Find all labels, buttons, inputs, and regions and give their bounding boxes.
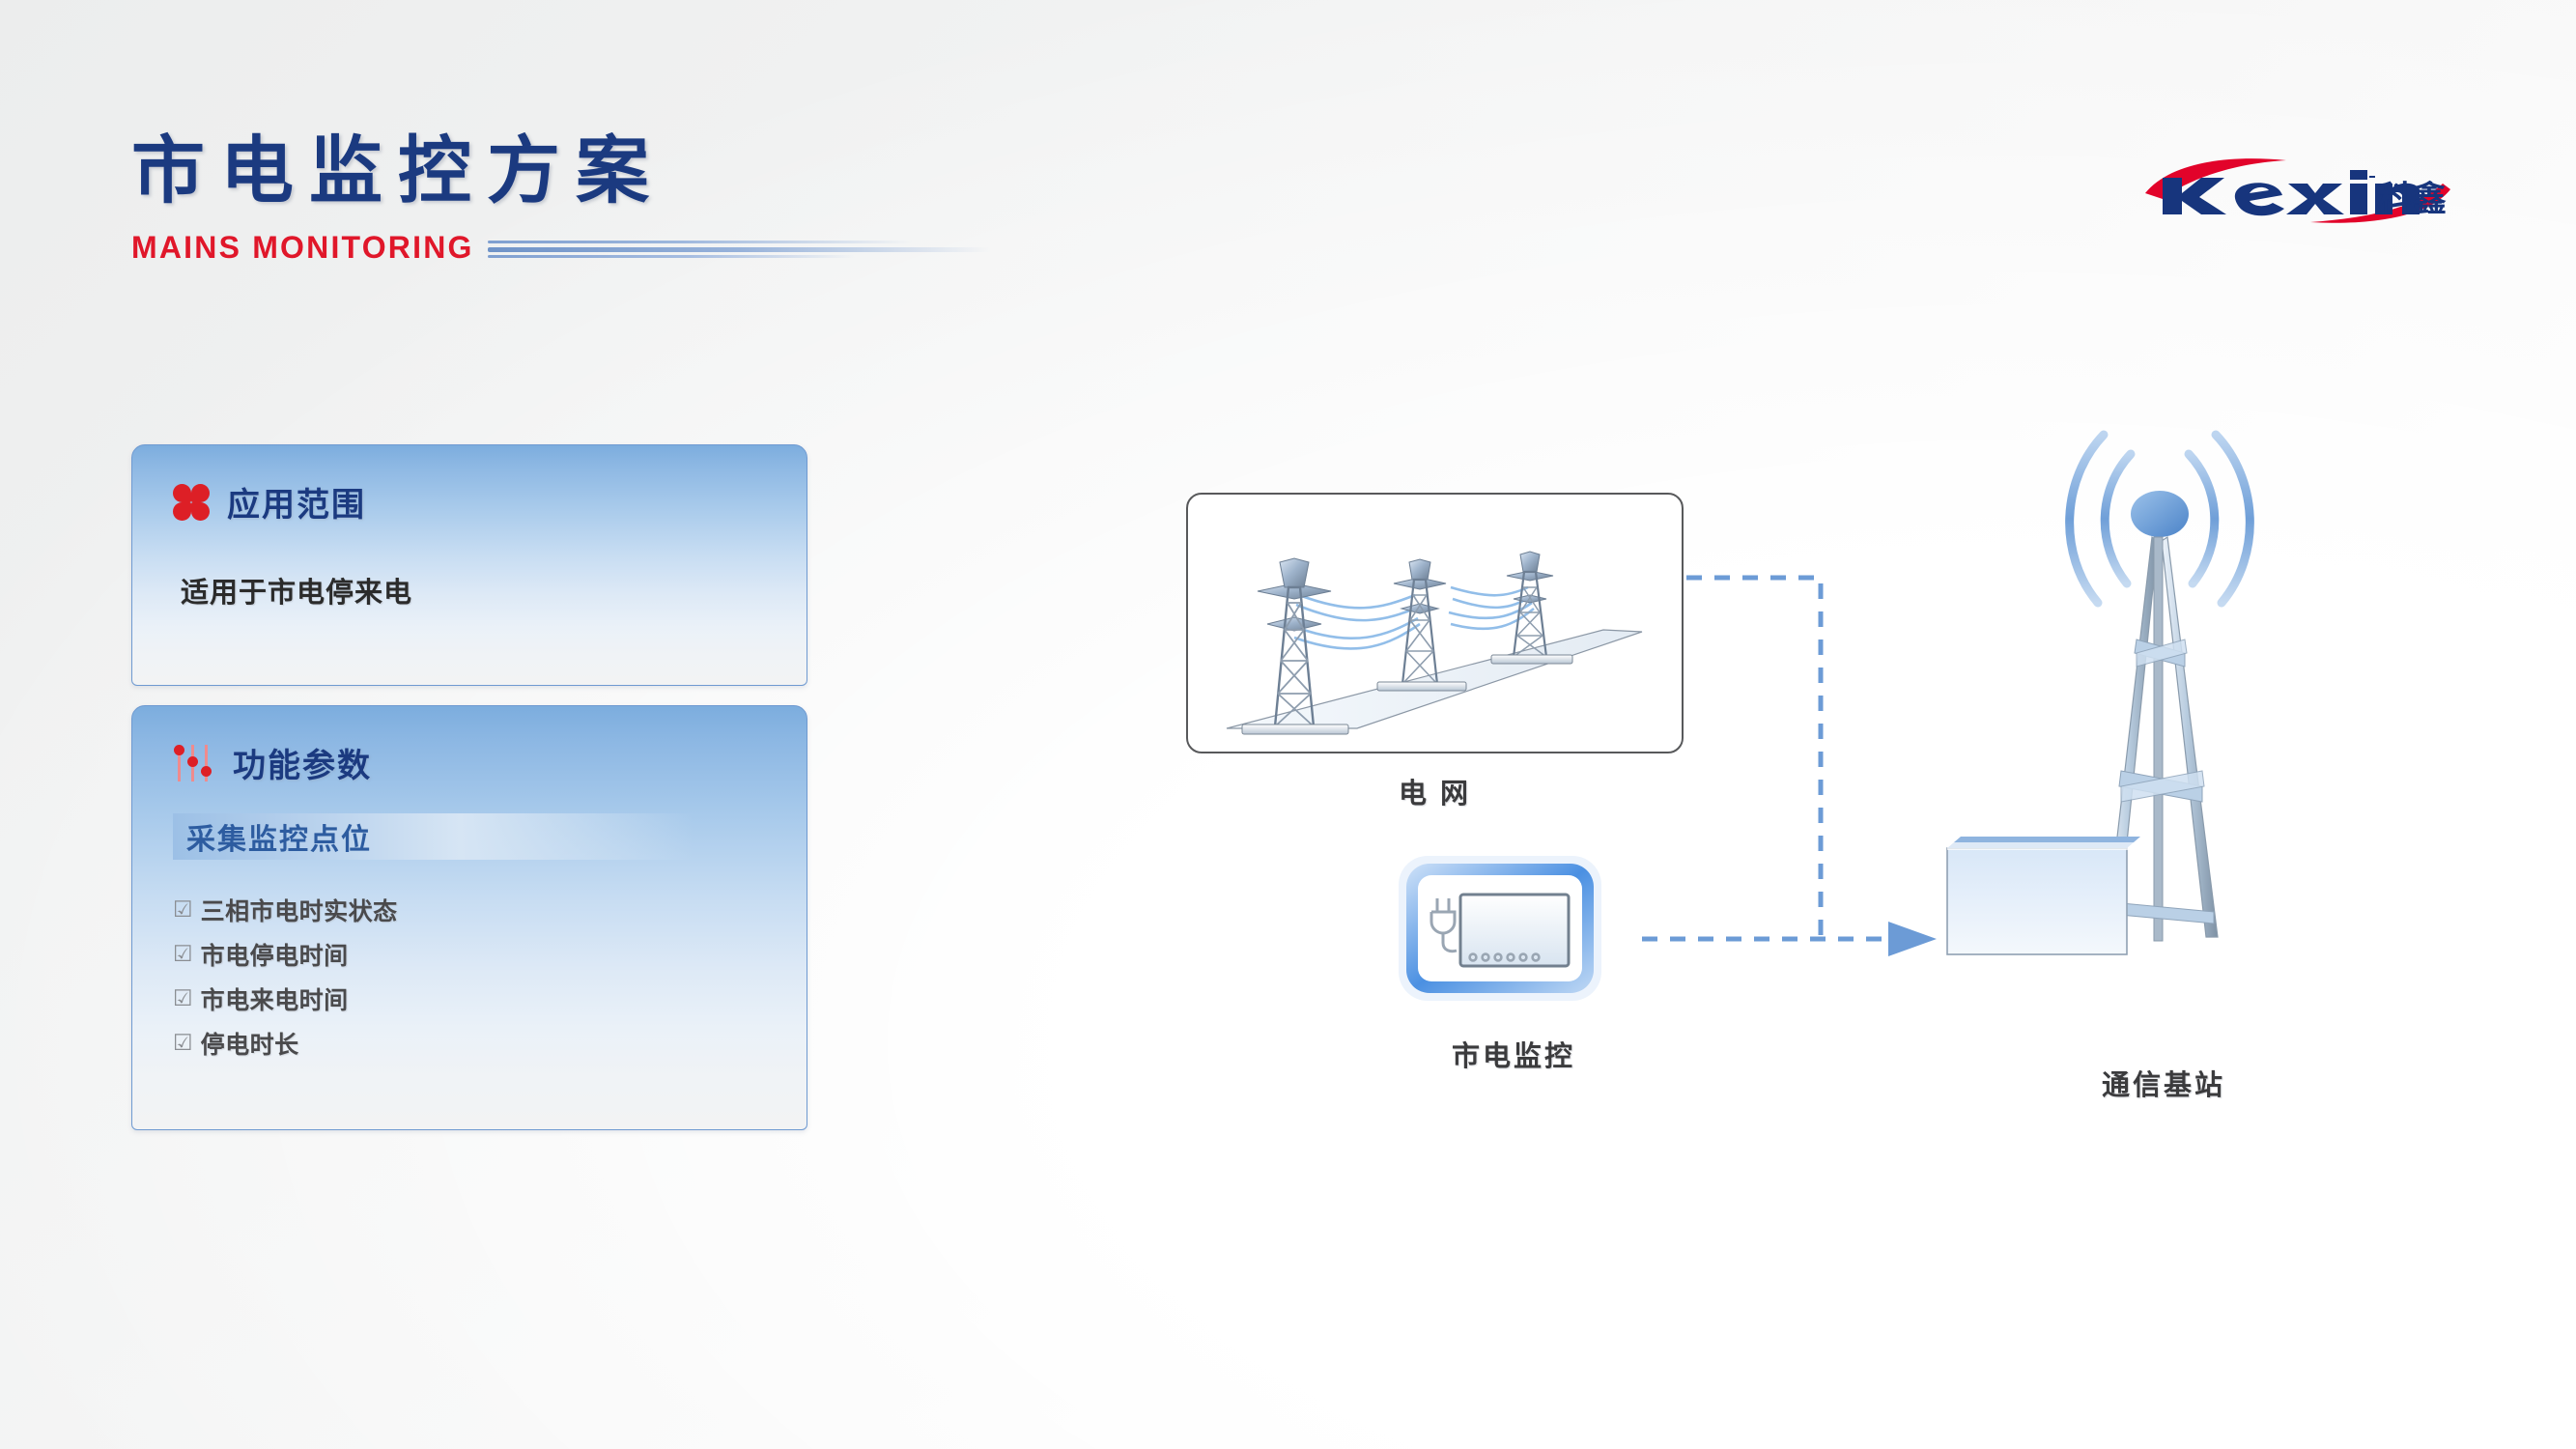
- node-mains-monitor-caption: 市电监控: [1345, 1034, 1683, 1074]
- list-item[interactable]: ☑ 市电停电时间: [173, 937, 807, 972]
- node-power-grid[interactable]: [1186, 493, 1684, 753]
- slide-canvas: 市电监控方案 MAINS MONITORING: [0, 0, 2576, 1449]
- sliders-icon: [173, 743, 215, 783]
- system-diagram: 电 网: [1140, 464, 2473, 1179]
- logo-svg: 科鑫: [2141, 155, 2460, 232]
- page-subtitle: MAINS MONITORING: [131, 230, 474, 266]
- checkbox-icon[interactable]: ☑: [173, 944, 193, 966]
- card-params-subtitle: 采集监控点位: [173, 813, 694, 860]
- base-station-illustration: [1961, 396, 2366, 1053]
- node-base-station[interactable]: [1961, 396, 2366, 1053]
- deco-line-2: [488, 247, 990, 252]
- deco-line-1: [488, 241, 913, 243]
- list-item-label: 市电来电时间: [201, 981, 349, 1016]
- monitoring-point-list: ☑ 三相市电时实状态 ☑ 市电停电时间 ☑ 市电来电时间 ☑ 停电时长: [173, 893, 807, 1061]
- card-params-subtitle-label: 采集监控点位: [186, 815, 372, 858]
- equipment-hut: [1947, 837, 2140, 954]
- list-item[interactable]: ☑ 市电来电时间: [173, 981, 807, 1016]
- card-params-title: 功能参数: [233, 739, 372, 786]
- subtitle-row: MAINS MONITORING: [131, 230, 990, 266]
- list-item[interactable]: ☑ 三相市电时实状态: [173, 893, 807, 927]
- card-params-header: 功能参数: [132, 706, 807, 786]
- logo-cjk-text: 科鑫: [2377, 179, 2447, 218]
- node-mains-monitor[interactable]: [1393, 850, 1634, 1019]
- card-function-parameters[interactable]: 功能参数 采集监控点位 ☑ 三相市电时实状态 ☑ 市电停电时间 ☑ 市电来电时间…: [131, 705, 807, 1130]
- list-item[interactable]: ☑ 停电时长: [173, 1026, 807, 1061]
- power-grid-illustration: [1188, 495, 1682, 752]
- clover-icon: [173, 484, 210, 521]
- mains-monitor-illustration: [1393, 850, 1634, 1019]
- company-logo: 科鑫: [2141, 155, 2460, 232]
- connector-grid-to-station: [1686, 578, 1821, 939]
- list-item-label: 市电停电时间: [201, 937, 349, 972]
- card-application-scope[interactable]: 应用范围 适用于市电停来电: [131, 444, 807, 686]
- card-scope-body: 适用于市电停来电: [181, 570, 807, 611]
- node-base-station-caption: 通信基站: [1941, 1063, 2386, 1103]
- title-block: 市电监控方案 MAINS MONITORING: [131, 135, 990, 266]
- antenna-dome: [2131, 491, 2189, 537]
- card-scope-title: 应用范围: [227, 478, 366, 526]
- list-item-label: 三相市电时实状态: [201, 893, 398, 927]
- deco-line-3: [488, 255, 855, 258]
- checkbox-icon[interactable]: ☑: [173, 988, 193, 1010]
- checkbox-icon[interactable]: ☑: [173, 1033, 193, 1055]
- card-scope-header: 应用范围: [132, 445, 807, 526]
- connector-arrowhead: [1888, 922, 1937, 956]
- page-title: 市电监控方案: [131, 135, 990, 209]
- node-power-grid-caption: 电 网: [1186, 771, 1684, 811]
- decorative-lines: [488, 236, 990, 261]
- logo-cjk-mark: [2369, 176, 2375, 178]
- checkbox-icon[interactable]: ☑: [173, 899, 193, 922]
- list-item-label: 停电时长: [201, 1026, 299, 1061]
